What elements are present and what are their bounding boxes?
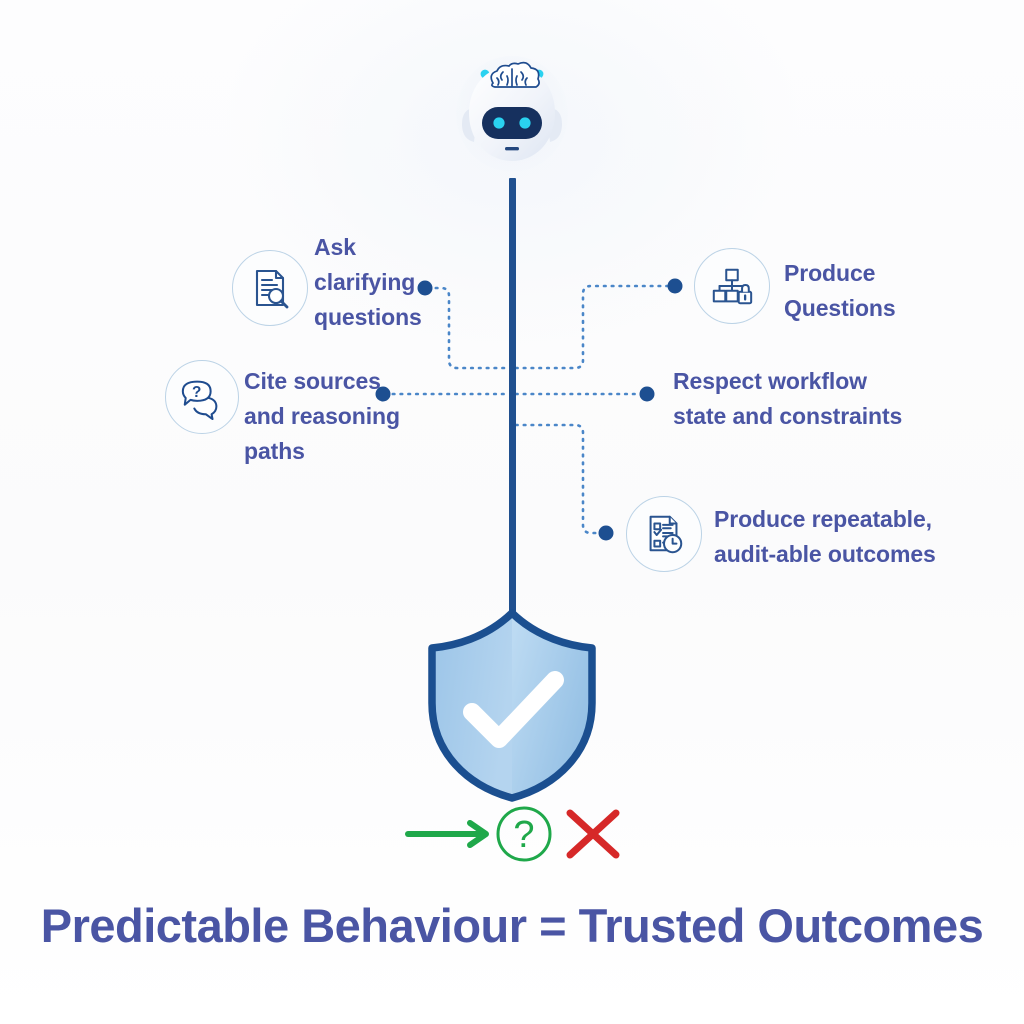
green-circled-question-mark-icon: ?	[498, 808, 550, 860]
svg-text:?: ?	[192, 384, 201, 401]
icon-circle-cite-sources[interactable]: ?	[165, 360, 239, 434]
icon-circle-produce-repeatable-outcomes[interactable]	[626, 496, 702, 572]
label-respect-workflow-state: Respect workflow state and constraints	[673, 364, 943, 434]
diagram-canvas: Ask clarifying questions ? Cite sources …	[0, 0, 1024, 1024]
page-title: Predictable Behaviour = Trusted Outcomes	[0, 898, 1024, 953]
checklist-with-clock-icon	[641, 511, 687, 557]
label-ask-clarifying-questions: Ask clarifying questions	[314, 230, 444, 335]
icon-circle-ask-clarifying-questions[interactable]	[232, 250, 308, 326]
label-cite-sources: Cite sources and reasoning paths	[244, 364, 414, 469]
shield-with-checkmark-icon[interactable]	[424, 608, 600, 803]
speech-bubbles-question-mark-icon: ?	[179, 374, 225, 420]
document-with-magnifier-icon	[246, 264, 294, 312]
green-right-arrow-icon	[408, 823, 486, 845]
wire-dot-produce-questions	[668, 279, 683, 294]
ai-robot-head-with-brain-icon[interactable]	[437, 52, 587, 182]
icon-circle-produce-questions[interactable]	[694, 248, 770, 324]
central-connector-line	[509, 178, 516, 618]
label-produce-repeatable-outcomes: Produce repeatable, audit-able outcomes	[714, 502, 974, 572]
hierarchy-with-lock-icon	[709, 263, 755, 309]
wire-dot-produce-repeatable-outcomes	[599, 526, 614, 541]
red-cross-icon	[570, 813, 616, 855]
svg-text:?: ?	[513, 814, 534, 856]
wire-produce-questions	[516, 286, 672, 368]
wire-dot-respect-workflow-state	[640, 387, 655, 402]
label-produce-questions: Produce Questions	[784, 256, 964, 326]
outcome-glyph-row: ?	[404, 803, 624, 865]
wire-produce-repeatable-outcomes	[516, 425, 603, 533]
